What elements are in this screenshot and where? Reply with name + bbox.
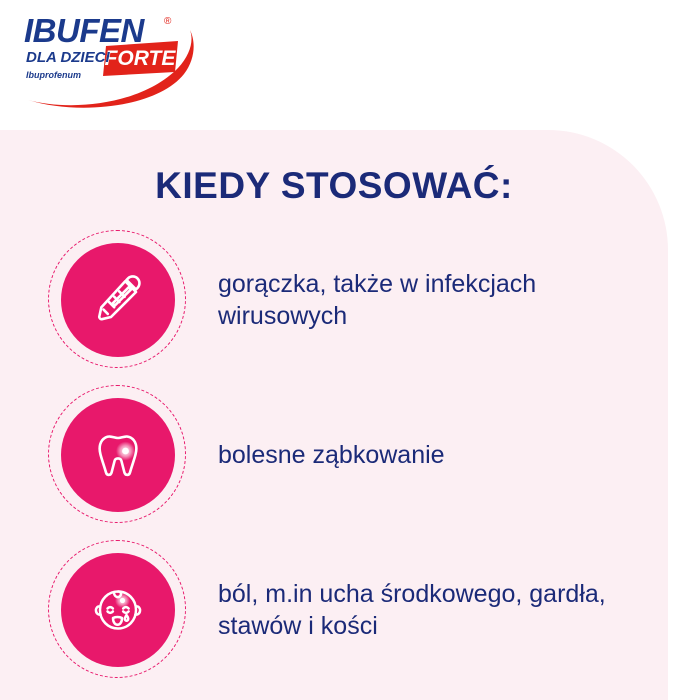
brand-subtitle: DLA DZIECI xyxy=(26,49,110,66)
tooth-icon xyxy=(87,424,149,486)
list-item-label: ból, m.in ucha środkowego, gardła, stawó… xyxy=(218,578,648,642)
promo-page: FORTE IBUFEN ® DLA DZIECI Ibuprofenum KI… xyxy=(0,0,700,700)
registered-trademark-icon: ® xyxy=(164,16,172,27)
list-item: ból, m.in ucha środkowego, gardła, stawó… xyxy=(0,532,668,687)
forte-badge-label: FORTE xyxy=(105,47,177,70)
list-item: bolesne ząbkowanie xyxy=(0,377,668,532)
page-title: KIEDY STOSOWAĆ: xyxy=(0,165,668,207)
brand-logo: FORTE IBUFEN ® DLA DZIECI Ibuprofenum xyxy=(18,8,218,113)
list-item: gorączka, także w infekcjach wirusowych xyxy=(0,222,668,377)
brand-substance: Ibuprofenum xyxy=(26,70,81,80)
icon-disc xyxy=(61,243,175,357)
list-item-label: gorączka, także w infekcjach wirusowych xyxy=(218,268,648,332)
icon-disc xyxy=(61,398,175,512)
icon-badge xyxy=(48,385,188,525)
icon-disc xyxy=(61,553,175,667)
indications-list: gorączka, także w infekcjach wirusowych xyxy=(0,222,668,687)
crying-baby-face-icon xyxy=(87,579,149,641)
list-item-label: bolesne ząbkowanie xyxy=(218,439,445,471)
thermometer-icon xyxy=(87,269,149,331)
icon-badge xyxy=(48,540,188,680)
icon-badge xyxy=(48,230,188,370)
brand-wordmark: IBUFEN xyxy=(24,12,146,49)
